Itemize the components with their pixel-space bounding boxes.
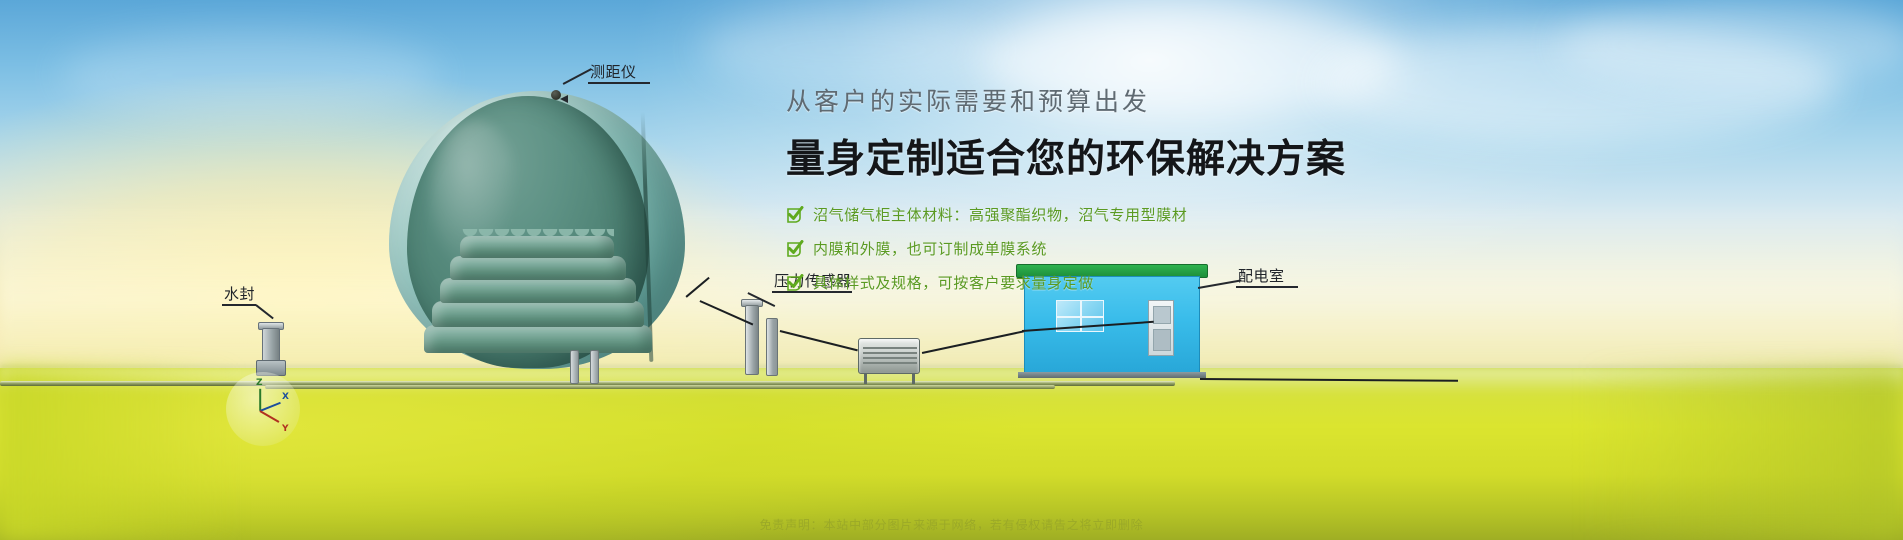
pressure-sensor-riser xyxy=(745,305,759,375)
blower-vent xyxy=(863,352,917,354)
list-item: 内膜和外膜，也可订制成单膜系统 xyxy=(786,238,1486,259)
cloud xyxy=(700,10,1000,90)
list-item-label: 沼气储气柜主体材料：高强聚酯织物，沼气专用型膜材 xyxy=(813,204,1187,225)
callout-underline-rangefinder xyxy=(588,82,650,84)
arrow-head-rangefinder xyxy=(560,95,568,103)
building-foundation xyxy=(1018,372,1206,378)
list-item-label: 内膜和外膜，也可订制成单膜系统 xyxy=(813,238,1047,259)
hero-text-block: 从客户的实际需要和预算出发 量身定制适合您的环保解决方案 沼气储气柜主体材料：高… xyxy=(786,82,1486,306)
axis-z xyxy=(259,389,261,411)
membrane-ring xyxy=(424,325,652,353)
membrane-ring xyxy=(450,256,626,280)
cloud xyxy=(60,30,440,120)
axis-gizmo: Z X Y xyxy=(226,372,300,446)
check-icon xyxy=(786,274,804,292)
membrane-ring xyxy=(440,278,636,303)
banner-hero: 测距仪 水封 压力传感器 配电室 xyxy=(0,0,1903,540)
axis-x xyxy=(260,402,281,412)
building-control-panel xyxy=(1148,300,1174,356)
pipeline-secondary xyxy=(265,385,1055,389)
support-post xyxy=(570,350,579,384)
pressure-sensor-riser-secondary xyxy=(766,318,778,376)
label-rangefinder: 测距仪 xyxy=(590,61,637,82)
check-icon xyxy=(786,240,804,258)
panel-buttons xyxy=(1153,329,1171,351)
list-item: 沼气储气柜主体材料：高强聚酯织物，沼气专用型膜材 xyxy=(786,204,1486,225)
panel-display xyxy=(1153,306,1171,324)
cloud xyxy=(1560,0,1903,90)
list-item: 具体样式及规格，可按客户要求量身定做 xyxy=(786,272,1486,293)
blower-vent xyxy=(863,347,917,349)
check-icon xyxy=(786,206,804,224)
hero-headline: 量身定制适合您的环保解决方案 xyxy=(786,128,1486,184)
blower-leg xyxy=(864,374,867,384)
disclaimer-text: 免责声明：本站中部分图片来源于网络，若有侵权请告之将立即删除 xyxy=(0,516,1903,533)
feature-list: 沼气储气柜主体材料：高强聚酯织物，沼气专用型膜材 内膜和外膜，也可订制成单膜系统 xyxy=(786,204,1486,293)
axis-label-x: X xyxy=(282,392,289,402)
axis-label-y: Y xyxy=(282,424,289,434)
membrane-ring xyxy=(432,301,644,327)
membrane-scallop-edge xyxy=(462,229,614,241)
blower-vent xyxy=(863,362,917,364)
label-water-seal: 水封 xyxy=(224,283,255,304)
axis-y xyxy=(260,410,280,422)
callout-underline-water-seal xyxy=(222,304,256,306)
ground-blur-left xyxy=(0,368,240,540)
axis-label-z: Z xyxy=(256,378,263,388)
blower-unit xyxy=(858,338,920,374)
blower-vent xyxy=(863,357,917,359)
blower-leg xyxy=(912,374,915,384)
support-post xyxy=(590,350,599,384)
ground-blur-right xyxy=(1583,368,1903,540)
hero-subtitle: 从客户的实际需要和预算出发 xyxy=(786,82,1486,118)
list-item-label: 具体样式及规格，可按客户要求量身定做 xyxy=(813,272,1094,293)
